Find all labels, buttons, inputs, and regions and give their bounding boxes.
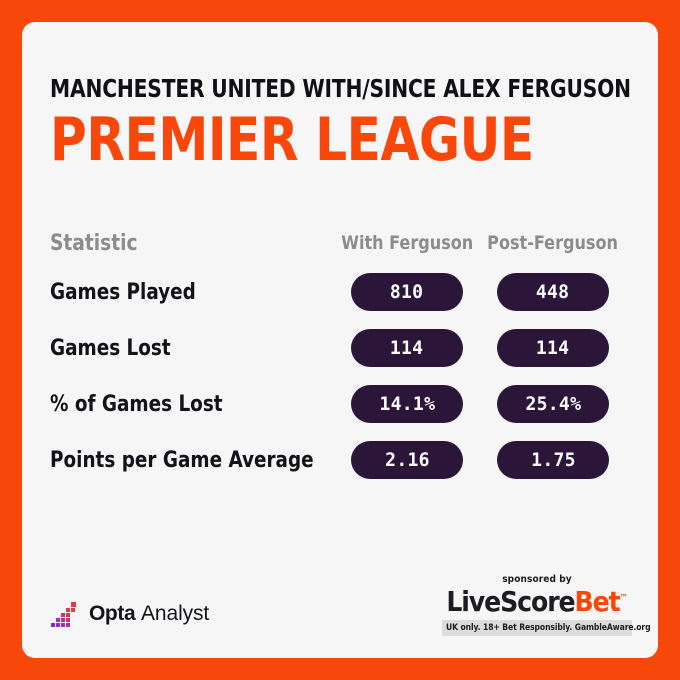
orange-frame: MANCHESTER UNITED WITH/SINCE ALEX FERGUS… [0,0,680,680]
value-text: 114 [536,337,569,359]
table-row: % of Games Lost 14.1% 25.4% [50,376,630,432]
title-block: MANCHESTER UNITED WITH/SINCE ALEX FERGUS… [50,76,630,170]
page-title: PREMIER LEAGUE [50,110,589,170]
analyst-name-light: Analyst [141,602,209,625]
row-label: % of Games Lost [50,392,223,417]
footer: Opta Analyst sponsored by LiveScoreBet™ … [22,568,658,658]
value-text: 2.16 [385,449,430,471]
bet-name: Bet [575,585,620,618]
header-cell-with-ferguson: With Ferguson [351,222,463,264]
row-label: Points per Game Average [50,448,314,473]
value-pill: 25.4% [497,385,609,423]
row-value-cell-with-ferguson: 2.16 [351,432,463,488]
value-text: 810 [390,281,423,303]
value-pill: 114 [351,329,463,367]
table-row: Points per Game Average 2.16 1.75 [50,432,630,488]
value-pill: 1.75 [497,441,609,479]
kicker-text: MANCHESTER UNITED WITH/SINCE ALEX FERGUS… [50,76,572,102]
row-value-cell-with-ferguson: 114 [351,320,463,376]
row-label-cell: Games Played [50,264,207,320]
value-pill: 2.16 [351,441,463,479]
value-pill: 14.1% [351,385,463,423]
table-row: Games Played 810 448 [50,264,630,320]
value-text: 448 [536,281,569,303]
header-label-post-ferguson: Post-Ferguson [488,232,619,254]
value-text: 14.1% [379,393,435,415]
infographic-card: MANCHESTER UNITED WITH/SINCE ALEX FERGUS… [22,22,658,658]
value-pill: 810 [351,273,463,311]
row-value-cell-post-ferguson: 448 [497,264,609,320]
gambling-disclaimer: UK only. 18+ Bet Responsibly. GambleAwar… [442,620,632,636]
table-row: Games Lost 114 114 [50,320,630,376]
sponsored-by-label: sponsored by [442,574,632,585]
livescorebet-logo: LiveScoreBet™ [442,587,632,616]
header-label-statistic: Statistic [50,231,137,256]
sponsor-block: sponsored by LiveScoreBet™ UK only. 18+ … [442,574,632,636]
livescore-name: LiveScore [446,585,574,618]
opta-wordmark: Opta Analyst [89,603,209,624]
row-label-cell: Points per Game Average [50,432,333,488]
trademark-symbol: ™ [620,593,628,603]
stats-table: Statistic With Ferguson Post-Ferguson Ga… [50,222,630,488]
opta-bars-icon [50,598,80,628]
value-pill: 114 [497,329,609,367]
header-cell-post-ferguson: Post-Ferguson [497,222,609,264]
row-value-cell-with-ferguson: 14.1% [351,376,463,432]
header-label-with-ferguson: With Ferguson [341,232,473,254]
row-value-cell-post-ferguson: 1.75 [497,432,609,488]
opta-analyst-logo: Opta Analyst [50,598,209,628]
value-text: 114 [390,337,423,359]
row-label-cell: % of Games Lost [50,376,236,432]
value-text: 25.4% [525,393,581,415]
opta-name-bold: Opta [89,602,135,625]
table-header-row: Statistic With Ferguson Post-Ferguson [50,222,630,264]
row-label-cell: Games Lost [50,320,180,376]
row-label: Games Lost [50,336,171,361]
row-label: Games Played [50,280,196,305]
row-value-cell-post-ferguson: 25.4% [497,376,609,432]
value-pill: 448 [497,273,609,311]
row-value-cell-post-ferguson: 114 [497,320,609,376]
value-text: 1.75 [531,449,576,471]
header-cell-statistic: Statistic [50,222,143,264]
row-value-cell-with-ferguson: 810 [351,264,463,320]
